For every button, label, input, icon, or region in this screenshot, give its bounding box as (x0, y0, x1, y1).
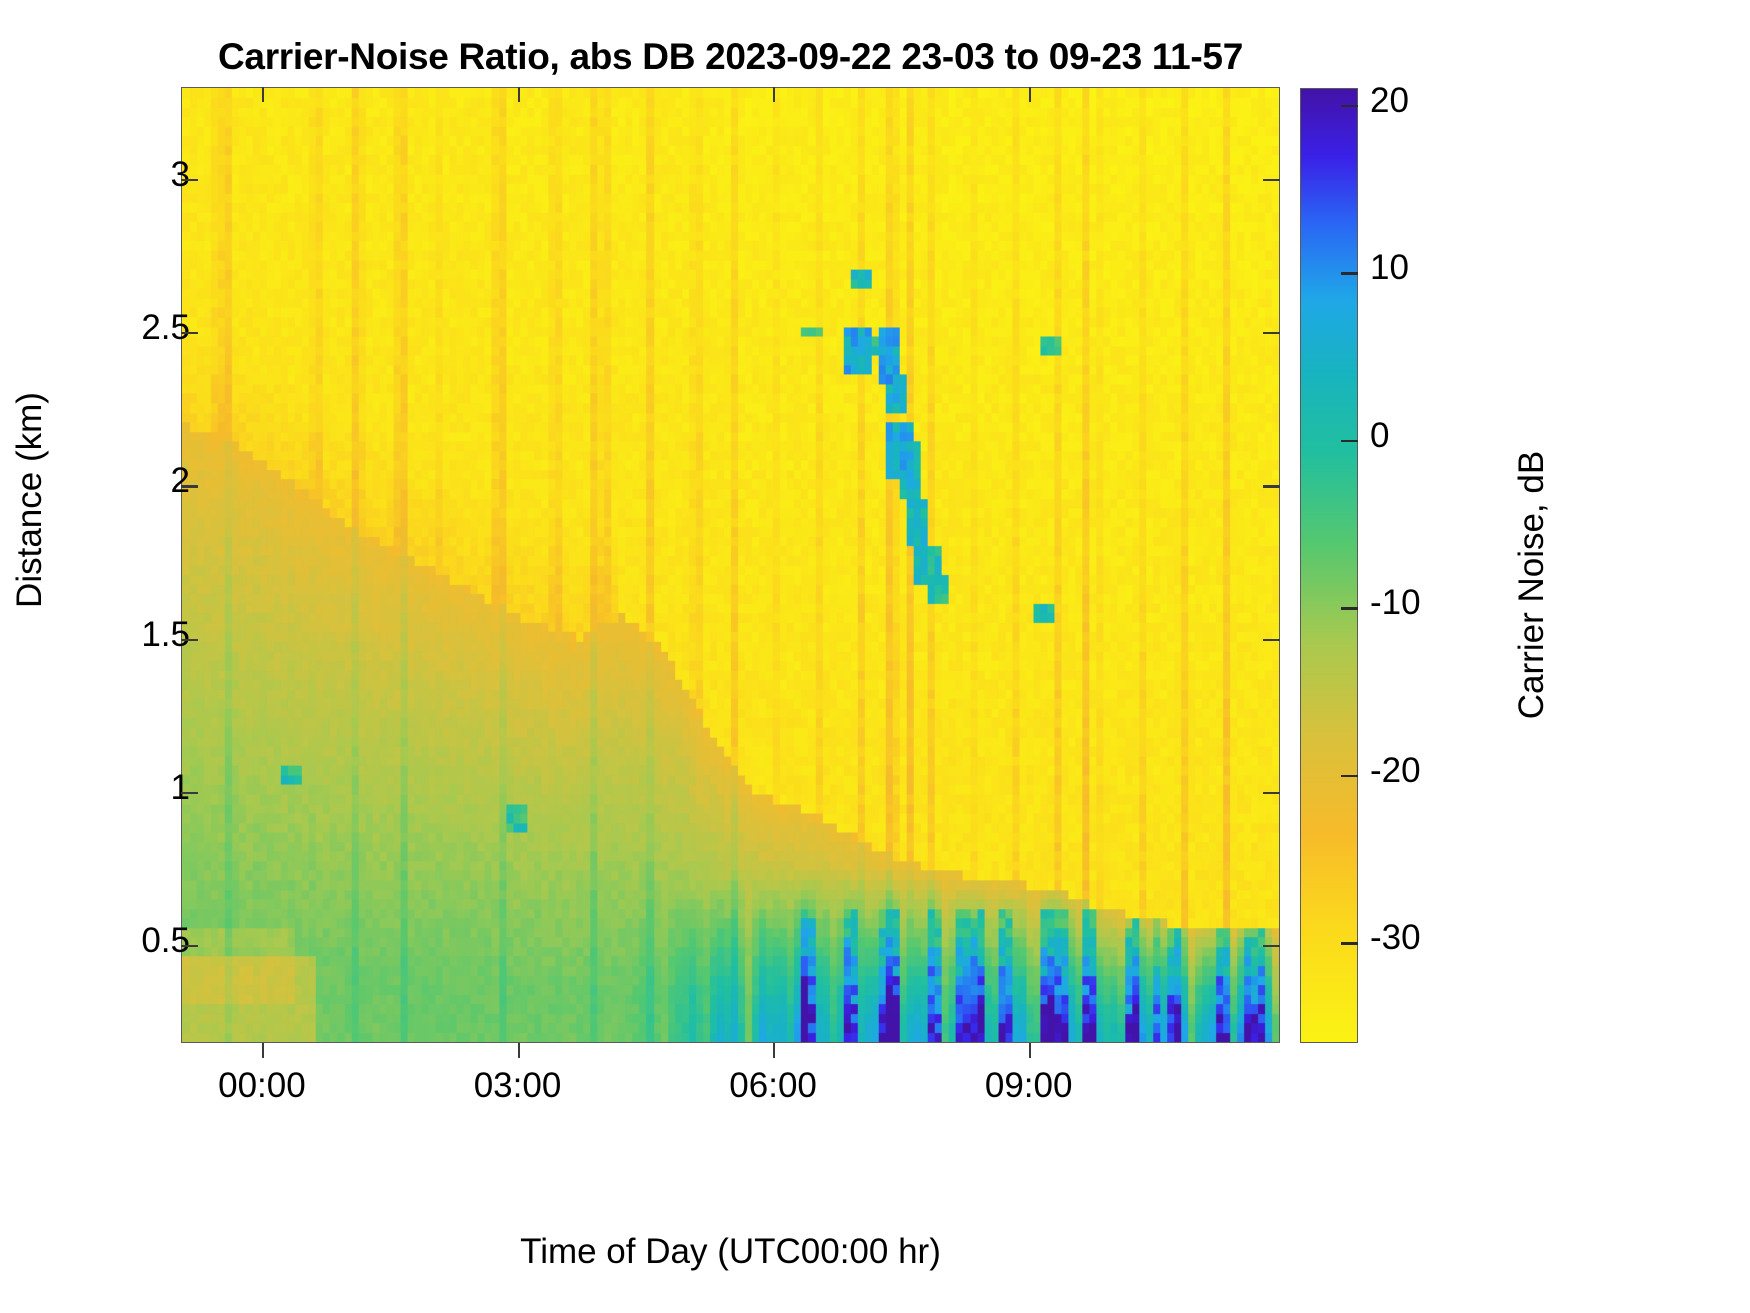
heatmap-image[interactable] (182, 88, 1279, 1042)
x-tick-mark (1029, 1043, 1031, 1058)
colorbar-tick-label: 20 (1370, 81, 1510, 121)
colorbar-tick-mark (1341, 942, 1358, 944)
x-tick-mark-top (518, 87, 520, 102)
y-tick-mark-right (1263, 485, 1280, 487)
y-tick-label: 0.5 (70, 921, 190, 961)
y-tick-label: 1 (70, 768, 190, 808)
x-tick-label: 06:00 (683, 1066, 863, 1106)
y-tick-label: 1.5 (70, 615, 190, 655)
colorbar-tick-mark (1341, 775, 1358, 777)
x-tick-mark (262, 1043, 264, 1058)
page-title: Carrier-Noise Ratio, abs DB 2023-09-22 2… (181, 36, 1280, 78)
y-tick-mark-right (1263, 792, 1280, 794)
y-tick-mark (181, 639, 198, 641)
colorbar-tick-label: -20 (1370, 751, 1510, 791)
colorbar-tick-mark (1341, 105, 1358, 107)
y-tick-mark (181, 945, 198, 947)
heatmap-axes[interactable] (181, 87, 1280, 1043)
x-tick-label: 09:00 (939, 1066, 1119, 1106)
colorbar-gradient (1301, 89, 1357, 1042)
figure-canvas: Carrier-Noise Ratio, abs DB 2023-09-22 2… (0, 0, 1750, 1313)
x-tick-mark (773, 1043, 775, 1058)
x-tick-label: 03:00 (428, 1066, 608, 1106)
colorbar-tick-label: -30 (1370, 918, 1510, 958)
x-tick-mark-top (1029, 87, 1031, 102)
colorbar[interactable] (1300, 88, 1358, 1043)
colorbar-label: Carrier Noise, dB (1512, 325, 1552, 845)
x-tick-mark-top (773, 87, 775, 102)
colorbar-tick-label: 0 (1370, 416, 1510, 456)
colorbar-tick-mark (1341, 440, 1358, 442)
x-tick-label: 00:00 (172, 1066, 352, 1106)
colorbar-tick-label: 10 (1370, 248, 1510, 288)
x-tick-mark (518, 1043, 520, 1058)
y-tick-mark (181, 485, 198, 487)
y-tick-mark (181, 179, 198, 181)
colorbar-tick-mark (1341, 607, 1358, 609)
y-tick-label: 3 (70, 155, 190, 195)
y-axis-label: Distance (km) (10, 170, 50, 830)
y-tick-mark-right (1263, 639, 1280, 641)
colorbar-tick-mark (1341, 272, 1358, 274)
y-tick-mark-right (1263, 945, 1280, 947)
y-tick-label: 2 (70, 461, 190, 501)
y-tick-mark-right (1263, 332, 1280, 334)
x-axis-label: Time of Day (UTC00:00 hr) (181, 1232, 1280, 1272)
y-tick-mark (181, 332, 198, 334)
y-tick-label: 2.5 (70, 308, 190, 348)
colorbar-tick-label: -10 (1370, 583, 1510, 623)
y-tick-mark (181, 792, 198, 794)
y-tick-mark-right (1263, 179, 1280, 181)
x-tick-mark-top (262, 87, 264, 102)
